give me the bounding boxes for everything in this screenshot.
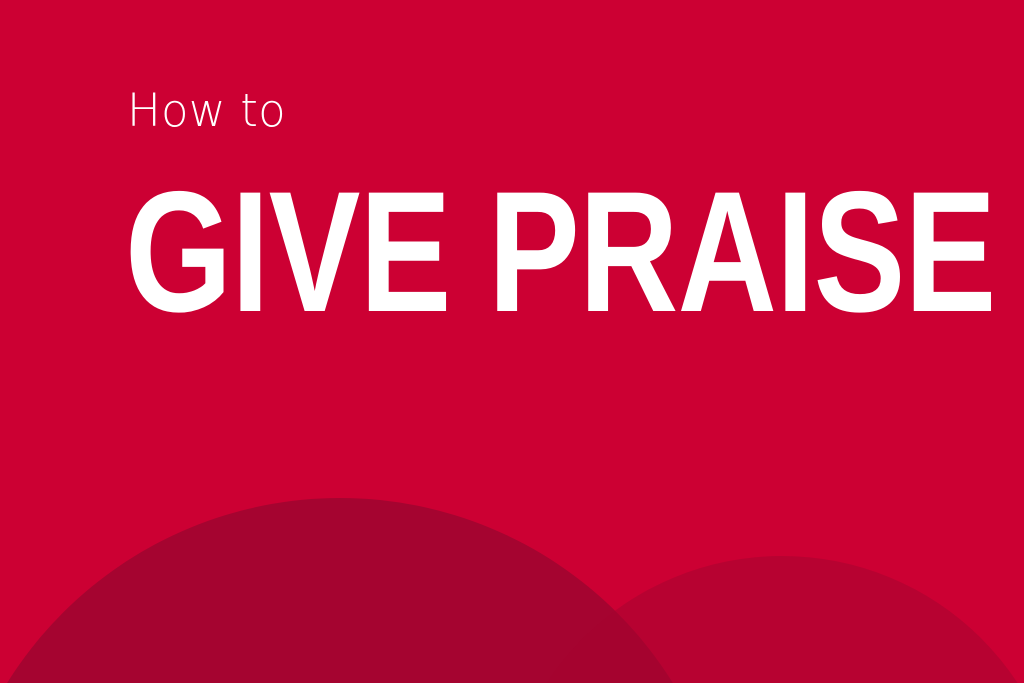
title-text-block: How to GIVE PRAISE [127,88,907,133]
eyebrow-text: How to [127,88,907,133]
title-slide: How to GIVE PRAISE [0,0,1024,683]
page-title: GIVE PRAISE [125,166,996,338]
decorative-circle-right [500,556,1024,683]
decorative-circle-left [0,498,732,683]
